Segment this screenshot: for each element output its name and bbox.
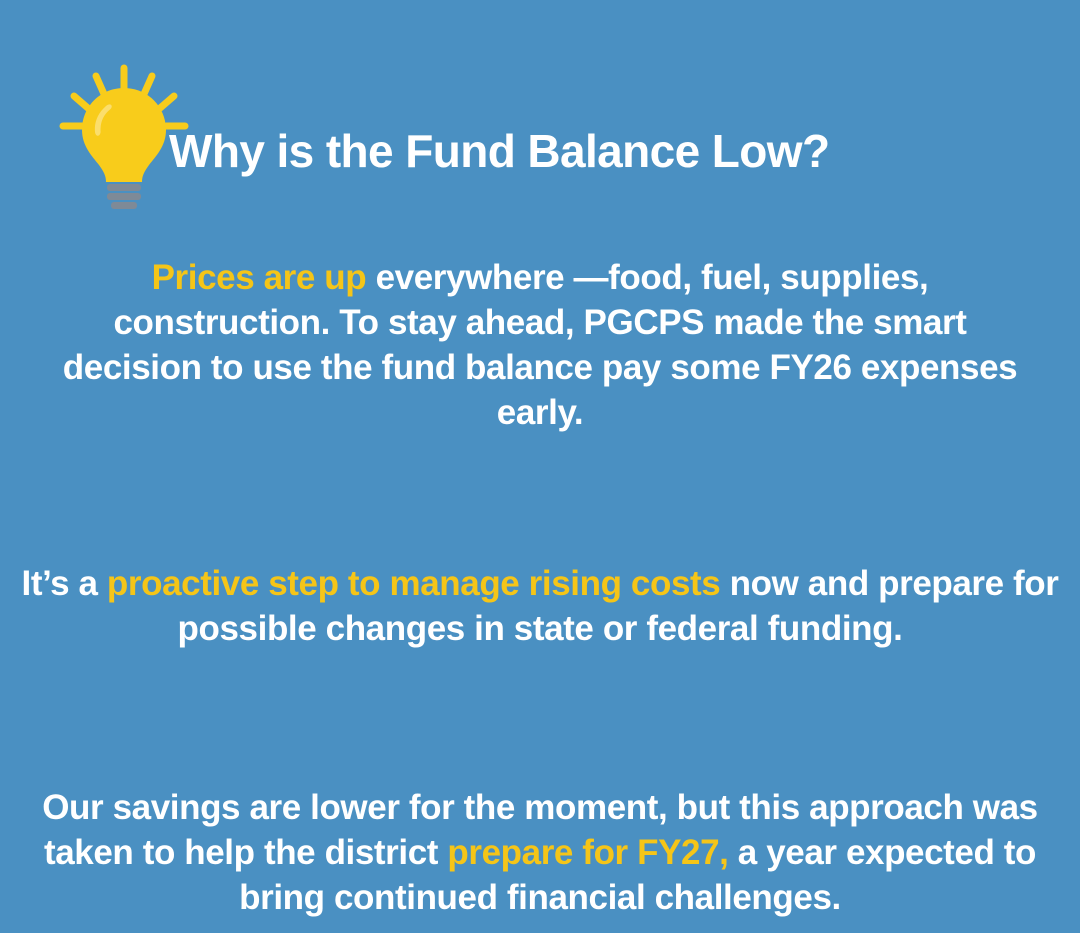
highlight-prepare-for-fy27: prepare for FY27,: [447, 833, 728, 872]
slide-canvas: Why is the Fund Balance Low? Prices are …: [0, 0, 1080, 933]
paragraph-gap-1: [16, 435, 1064, 561]
highlight-proactive-step: proactive step to manage rising costs: [107, 564, 720, 603]
paragraph-prices-are-up: Prices are up everywhere —food, fuel, su…: [60, 255, 1020, 435]
paragraph-2-lead: It’s a: [22, 564, 107, 603]
page-title: Why is the Fund Balance Low?: [169, 124, 829, 178]
paragraph-savings-lower: Our savings are lower for the moment, bu…: [20, 785, 1060, 920]
paragraph-proactive-step: It’s a proactive step to manage rising c…: [20, 561, 1060, 651]
body-copy: Prices are up everywhere —food, fuel, su…: [0, 255, 1080, 920]
header: Why is the Fund Balance Low?: [54, 62, 1044, 212]
highlight-prices-are-up: Prices are up: [152, 258, 367, 297]
paragraph-gap-2: [16, 651, 1064, 785]
